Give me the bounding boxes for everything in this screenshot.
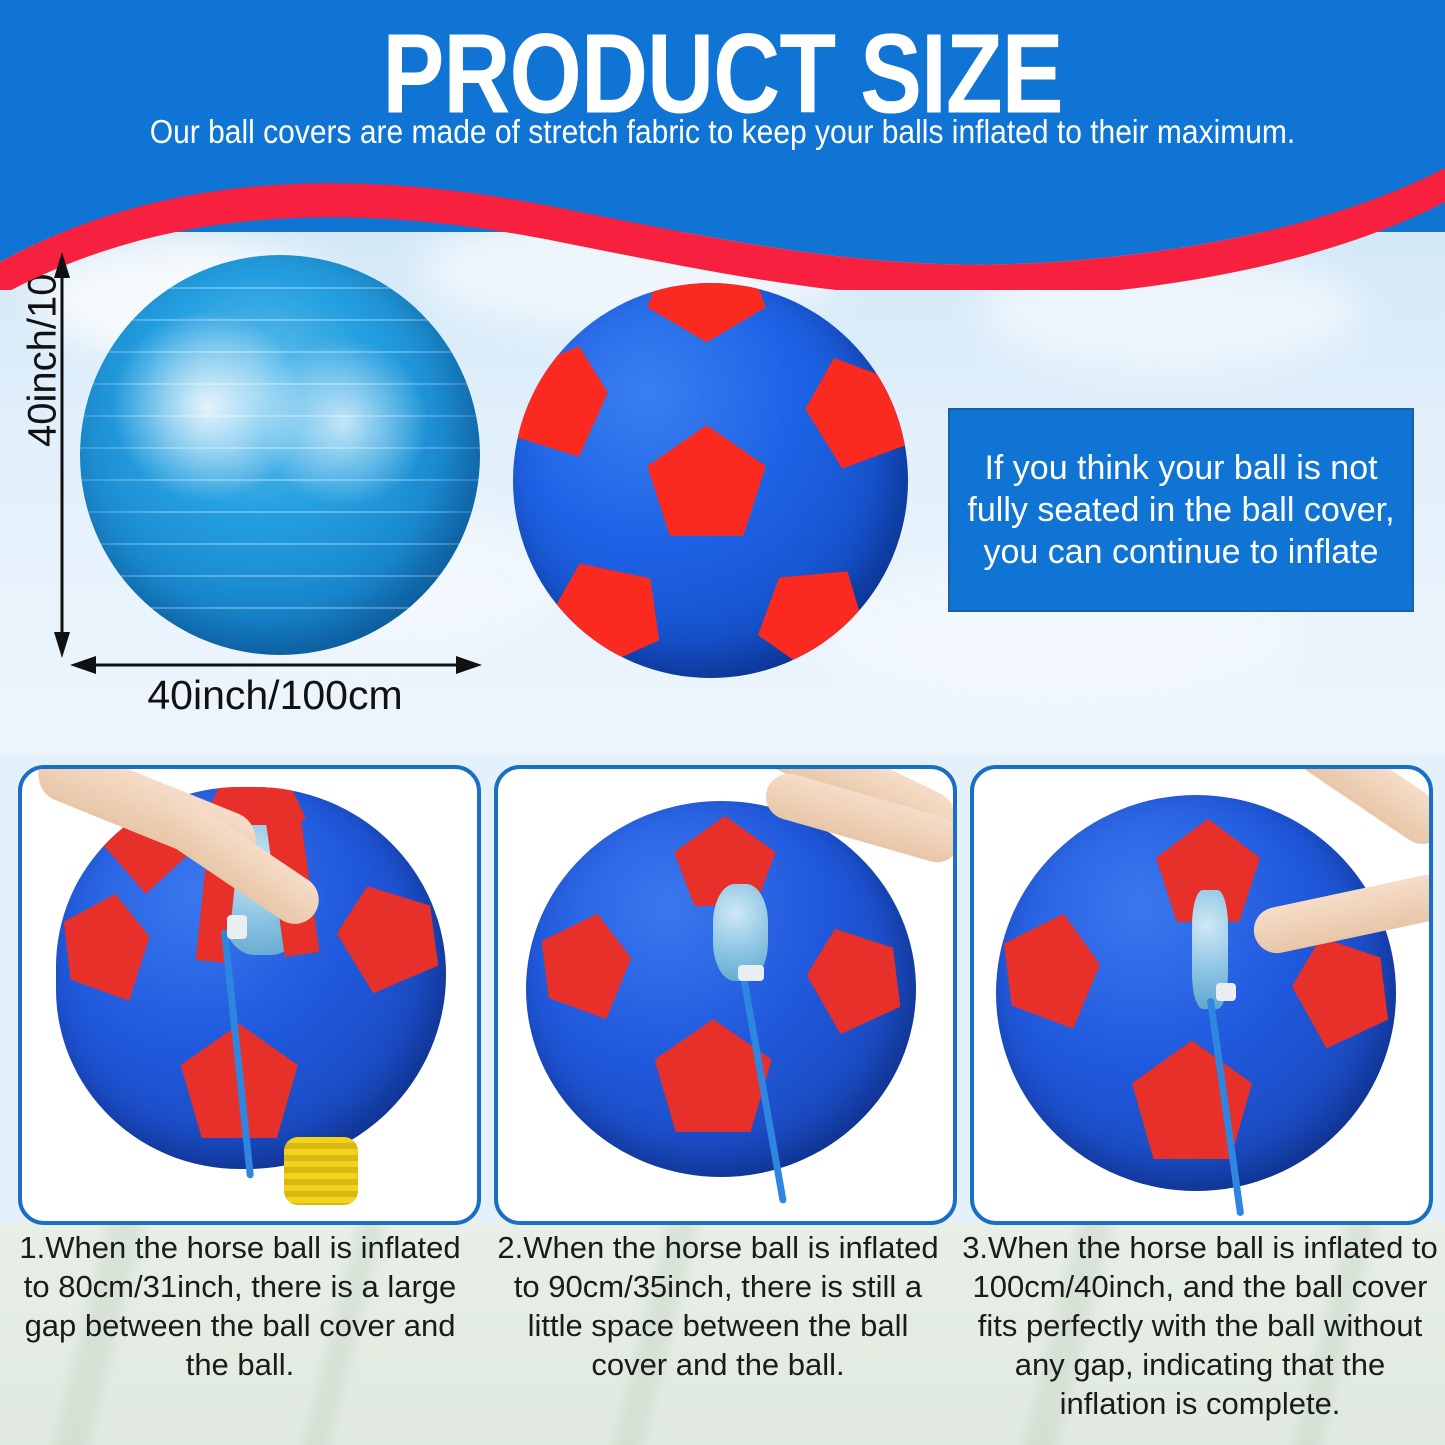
step-1-photo xyxy=(18,765,481,1225)
step-2-photo xyxy=(494,765,957,1225)
step-2-caption: 2.When the horse ball is inflated to 90c… xyxy=(488,1228,948,1384)
foot-pump xyxy=(284,1137,358,1205)
step-3-photo xyxy=(970,765,1433,1225)
product-size-infographic: PRODUCT SIZE Our ball covers are made of… xyxy=(0,0,1445,1445)
fully-fitted-ball-cover xyxy=(996,795,1396,1191)
partially-fitted-ball-cover xyxy=(526,801,916,1177)
pump-nozzle xyxy=(227,915,247,939)
step-photo-panels xyxy=(0,755,1445,1225)
inflate-callout-box: If you think your ball is not fully seat… xyxy=(948,408,1414,612)
pump-nozzle xyxy=(1216,983,1236,1001)
step-captions: 1.When the horse ball is inflated to 80c… xyxy=(0,1222,1445,1445)
pump-nozzle xyxy=(738,965,764,981)
inflate-callout-text: If you think your ball is not fully seat… xyxy=(950,447,1412,573)
dimension-arrows xyxy=(0,0,1445,760)
step-1-caption: 1.When the horse ball is inflated to 80c… xyxy=(10,1228,470,1384)
step-3-caption: 3.When the horse ball is inflated to 100… xyxy=(960,1228,1440,1423)
